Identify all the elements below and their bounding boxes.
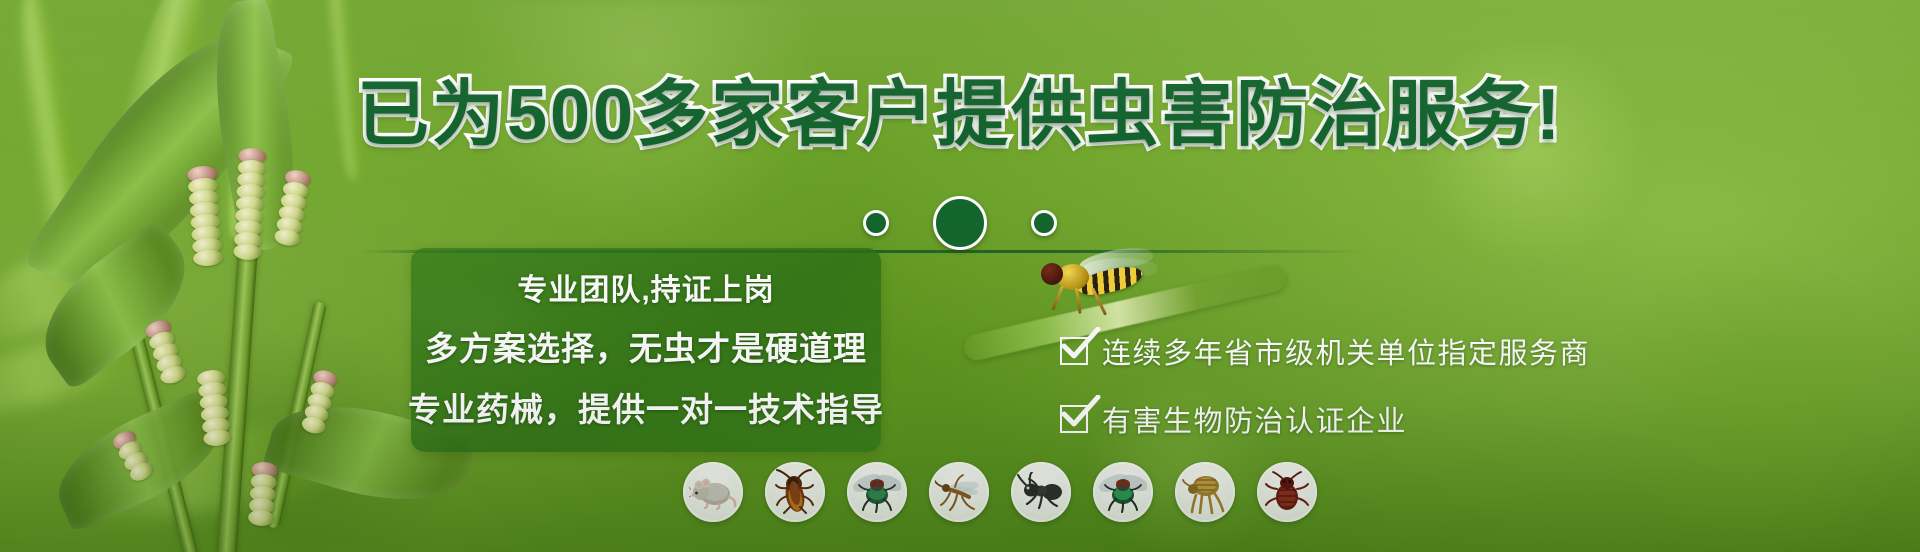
pest-control-hero-banner: 已为500多家客户提供虫害防治服务! 专业团队,持证上岗 多方案选择，无虫才是硬… [0,0,1920,552]
vignette-overlay [0,0,1920,552]
